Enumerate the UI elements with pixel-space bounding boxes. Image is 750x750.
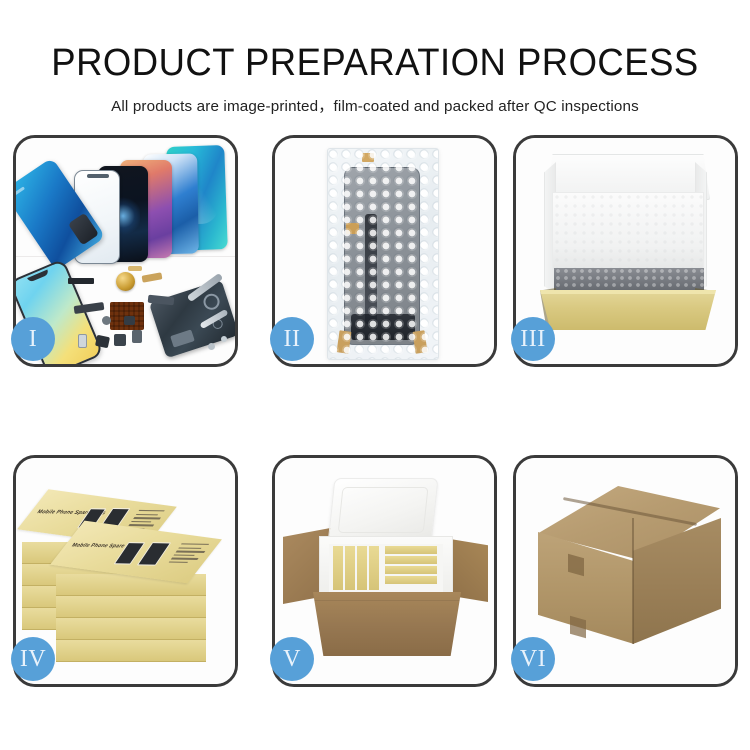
steps-row-bottom: Mobile Phone Spare Parts (0, 455, 750, 687)
phone-parts-icon (16, 138, 235, 364)
step-panel-1[interactable] (13, 135, 238, 367)
sealed-carton-icon (516, 458, 735, 684)
stacked-boxes-icon: Mobile Phone Spare Parts (16, 458, 235, 684)
step-panel-5[interactable] (272, 455, 497, 687)
step-panel-3[interactable] (513, 135, 738, 367)
carton-styrofoam-icon (275, 458, 494, 684)
step-panel-2[interactable] (272, 135, 497, 367)
page-subtitle: All products are image-printed，film-coat… (0, 94, 750, 116)
product-preparation-infographic: PRODUCT PREPARATION PROCESS All products… (0, 0, 750, 750)
steps-row-top: I II III (0, 135, 750, 367)
steps-grid: I II III Mobile Phon (0, 135, 750, 687)
step-panel-6[interactable] (513, 455, 738, 687)
page-title: PRODUCT PREPARATION PROCESS (15, 44, 735, 82)
step-panel-4[interactable]: Mobile Phone Spare Parts (13, 455, 238, 687)
header: PRODUCT PREPARATION PROCESS All products… (0, 0, 750, 116)
open-box-foam-icon (516, 138, 735, 364)
bubble-wrap-icon (275, 138, 494, 364)
